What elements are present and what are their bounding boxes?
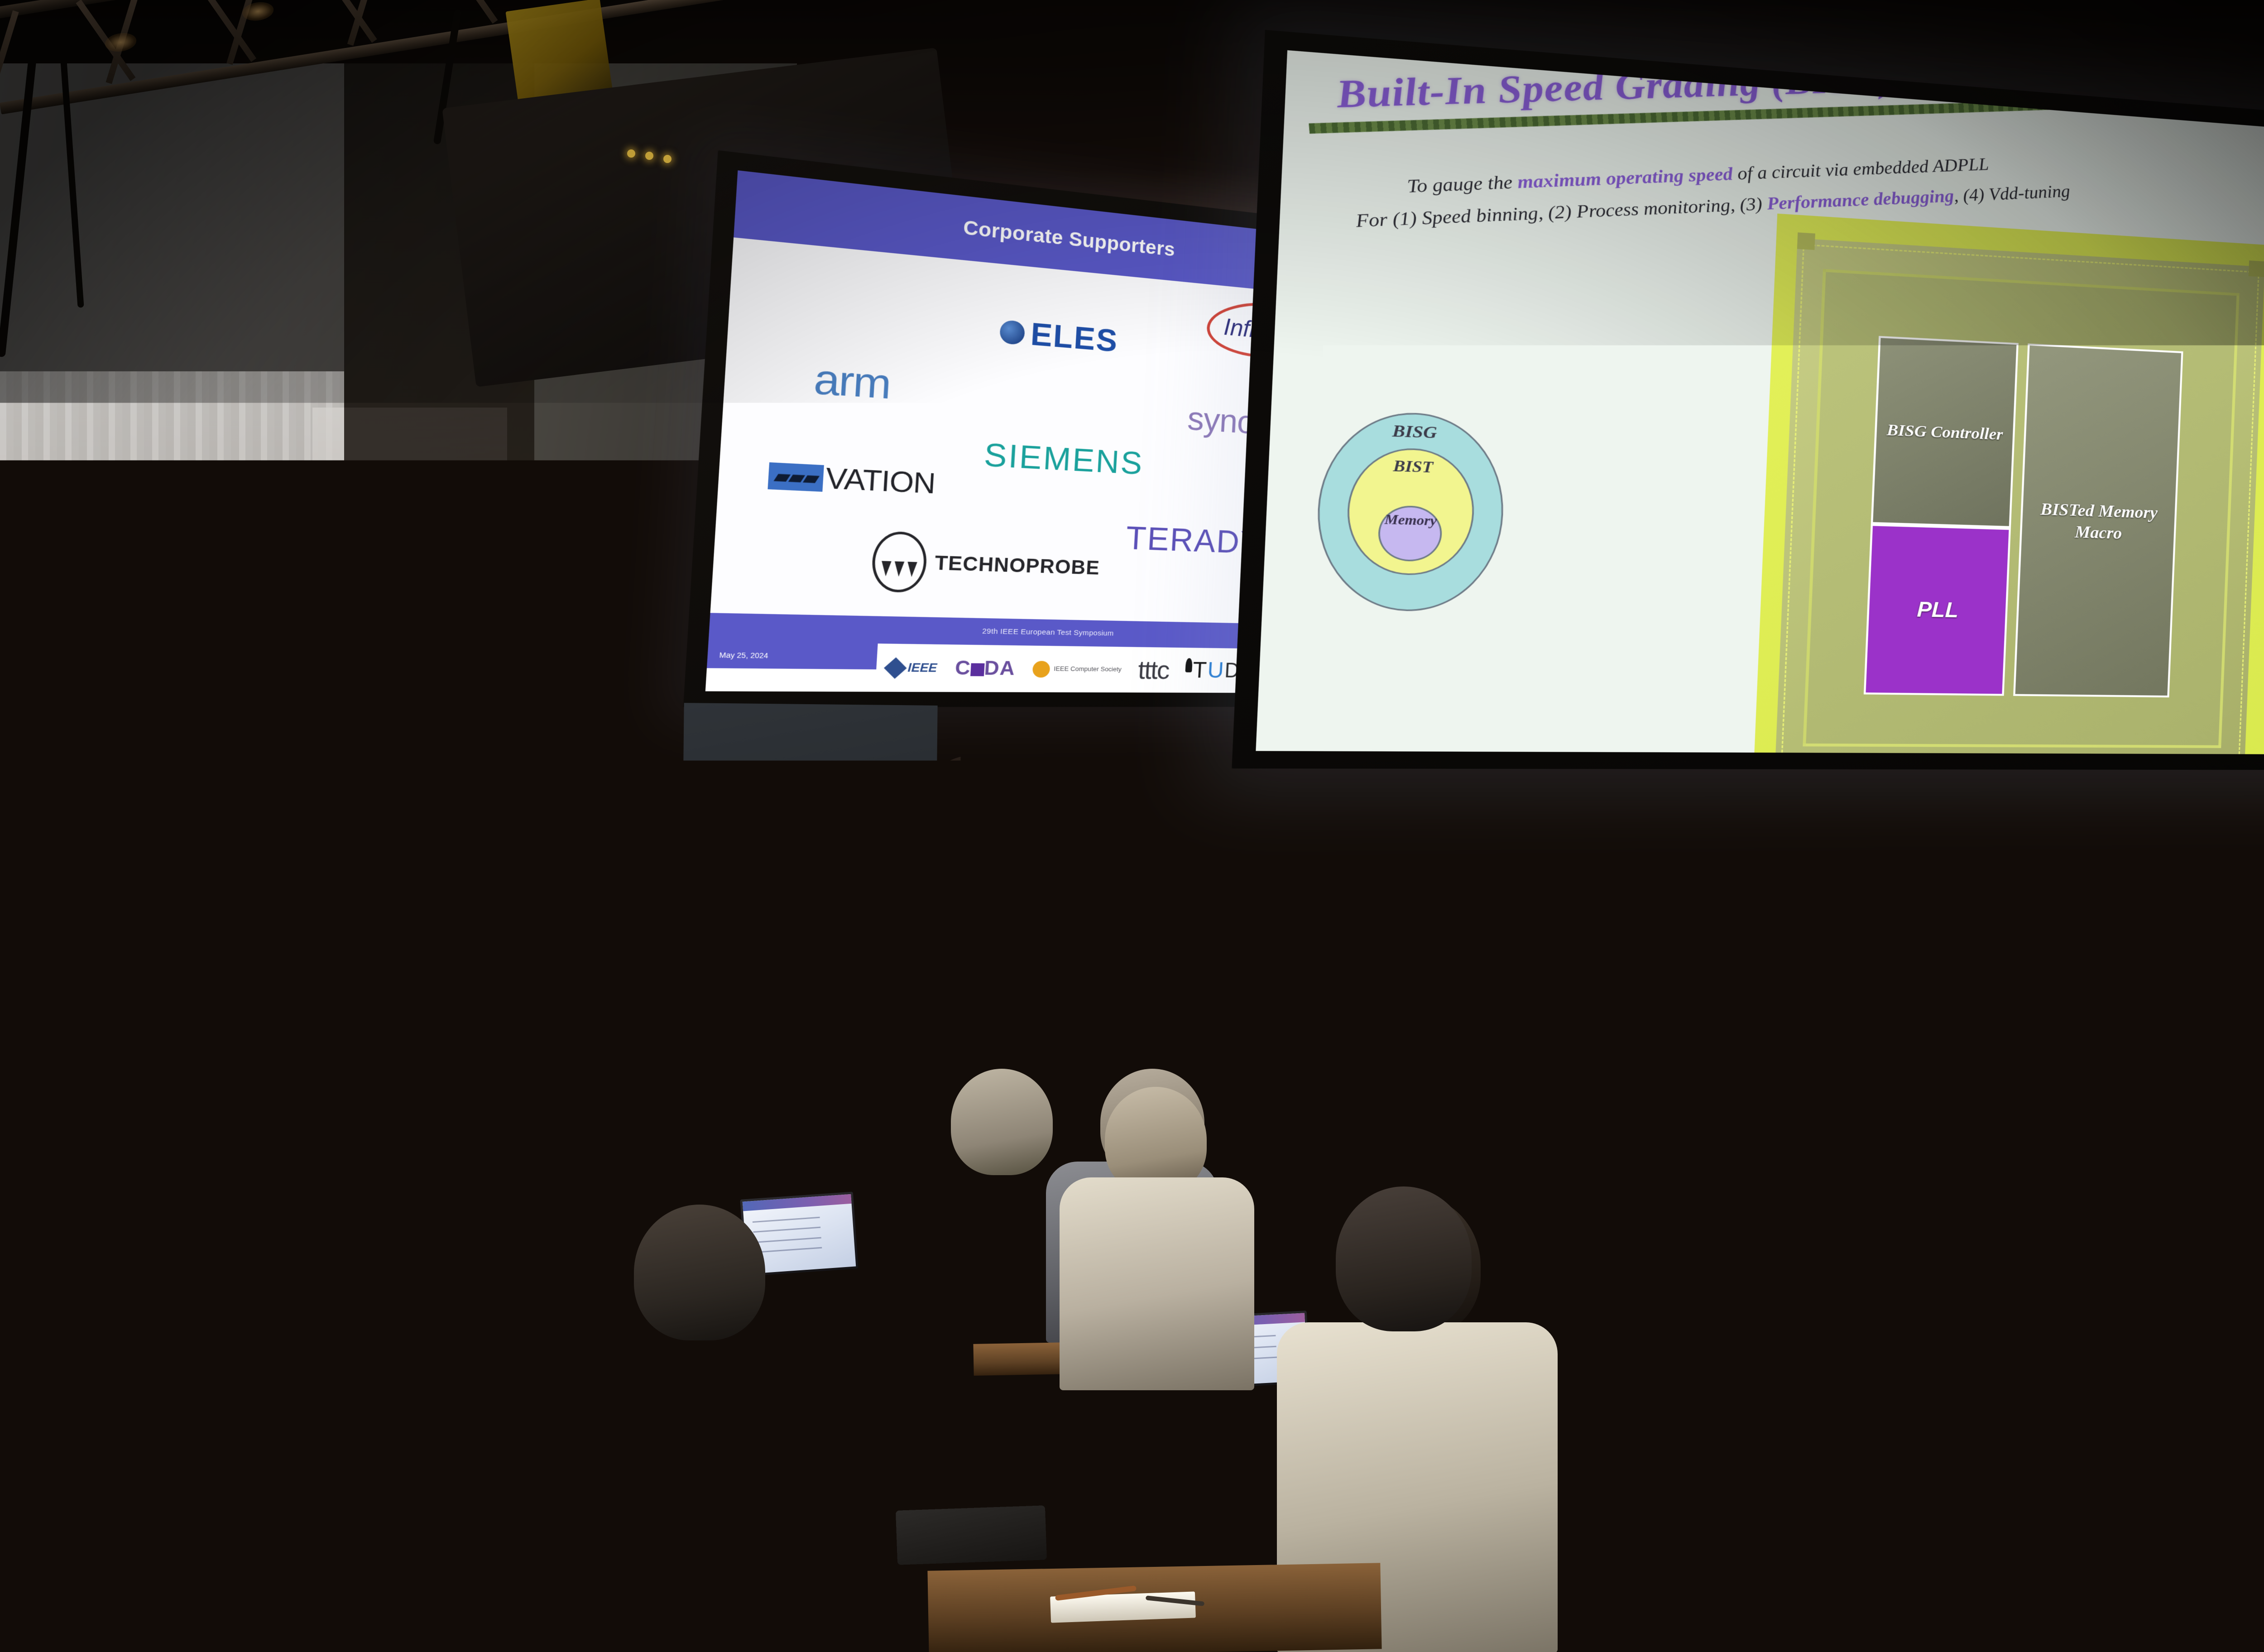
- die-core-blocks: BISG Controller PLL BISTed Memory Macro: [1864, 336, 2183, 697]
- lectern-laptop[interactable]: [790, 836, 926, 932]
- organizer-logo-ceda: CDA: [955, 657, 1016, 680]
- projector-led: [627, 149, 635, 158]
- projection-screen-right[interactable]: Built-In Speed Grading (BISG) For Memory…: [1232, 30, 2264, 770]
- projector-led: [645, 152, 653, 160]
- symposium-name: 29th IEEE European Test Symposium: [982, 627, 1114, 638]
- ceda-square-icon: [970, 663, 985, 677]
- venn-label-memory: Memory: [1383, 512, 1437, 561]
- sponsor-logo-eles-text: ELES: [1030, 318, 1119, 356]
- organizer-logo-ieee: IEEE: [887, 660, 937, 676]
- die-block-bisg-controller: BISG Controller: [1871, 336, 2019, 528]
- organizer-logo-tttc: tttc: [1137, 655, 1170, 685]
- flower-bloom: [389, 933, 410, 954]
- organizer-logo-computer-society: IEEE Computer Society: [1032, 661, 1122, 678]
- drinking-glass: [2103, 1567, 2176, 1652]
- slide-bisg-for-memory: Built-In Speed Grading (BISG) For Memory…: [1256, 50, 2264, 754]
- sponsor-logo-technoprobe: TECHNOPROBE: [854, 528, 1117, 600]
- computer-society-circle-icon: [1032, 661, 1050, 677]
- sponsor-logo-siemens: SIEMENS: [968, 425, 1159, 491]
- sponsor-logo-arm: arm: [766, 338, 936, 423]
- vation-block-icon: ▰▰▰: [768, 462, 825, 492]
- projector-led: [663, 155, 672, 163]
- audience-torso: [1060, 1177, 1254, 1390]
- concentric-venn-diagram: BISG BIST Memory: [1313, 409, 1507, 612]
- audience-head-grey-hair: [254, 1268, 389, 1413]
- die-block-pll: PLL: [1864, 524, 2011, 696]
- tudelft-torch-icon: [1185, 658, 1192, 672]
- flower-bloom: [422, 897, 442, 917]
- flower-bloom: [466, 881, 482, 899]
- flower-arrangement: [254, 829, 543, 1082]
- flower-bloom: [384, 860, 401, 881]
- audience-head: [27, 1196, 140, 1318]
- flower-bloom: [340, 956, 358, 974]
- flower-bloom: [344, 883, 362, 905]
- audience-torso: [181, 1399, 462, 1652]
- slide-title: Corporate Supporters: [963, 217, 1175, 261]
- audience-head: [2006, 1096, 2124, 1220]
- foreground-device: [896, 1505, 1047, 1565]
- audience-head: [1336, 1186, 1472, 1331]
- die-block-bisted-memory-macro: BISTed Memory Macro: [2013, 343, 2183, 697]
- audience-torso: [0, 1309, 208, 1652]
- sponsor-logo-eles: ELES: [975, 298, 1142, 374]
- chip-die-micrograph: BISG Controller PLL BISTed Memory Macro: [1752, 213, 2264, 754]
- presenter-glasses: [945, 789, 1002, 802]
- flower-bloom: [308, 906, 328, 926]
- flower-bloom: [444, 942, 461, 959]
- audience-torso: [512, 1349, 765, 1652]
- panel-microphone: [1349, 1010, 1361, 1032]
- foreground-tablet[interactable]: [1808, 1422, 1950, 1526]
- lectern-microphone-head: [754, 851, 766, 861]
- chair-back: [1241, 980, 1336, 1035]
- organizer-logo-ieee-text: IEEE: [907, 661, 937, 675]
- sponsor-logo-technoprobe-text: TECHNOPROBE: [934, 553, 1100, 578]
- lecture-hall-photo: Corporate Supporters TS 24 arm ELES Infi…: [0, 0, 2264, 1652]
- eles-globe-icon: [999, 319, 1025, 345]
- venn-ring-memory: Memory: [1377, 505, 1443, 562]
- slide-figure-area: BISG BIST Memory: [1256, 260, 2264, 754]
- sponsor-logo-vation: ▰▰▰ VATION: [739, 445, 963, 514]
- audience-head: [634, 1205, 765, 1340]
- slide-date: May 25, 2024: [707, 641, 878, 669]
- die-corner-pad: [2249, 260, 2264, 277]
- sponsor-logo-vation-text: VATION: [825, 464, 936, 499]
- audience-head: [1838, 1100, 1952, 1220]
- ieee-diamond-icon: [884, 657, 907, 678]
- audience-head: [1363, 1005, 1460, 1107]
- audience-head: [951, 1069, 1053, 1175]
- lectern-post: [743, 960, 766, 1173]
- die-corner-pad: [1797, 232, 1815, 250]
- panel-cup: [1877, 1013, 1887, 1024]
- presenter-hands: [954, 974, 1008, 1015]
- die-left-column: BISG Controller PLL: [1864, 336, 2019, 696]
- organizer-logo-computer-society-text: IEEE Computer Society: [1054, 666, 1122, 673]
- lectern-post: [808, 951, 844, 1191]
- chair-back: [1503, 978, 1603, 1035]
- technoprobe-oval-icon: [871, 531, 928, 593]
